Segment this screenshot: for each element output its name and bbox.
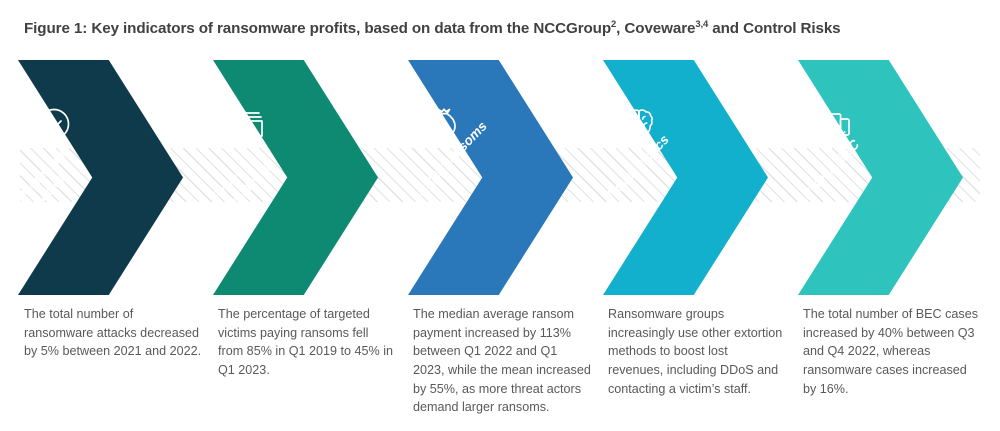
chevron-stage-2[interactable]: Fewer payments <box>213 60 378 295</box>
chevron-stage-4[interactable]: Novel tactics <box>603 60 768 295</box>
page-title-suffix: and Control Risks <box>708 20 840 37</box>
footnote-ref-3-4: 3,4 <box>695 18 708 29</box>
caption-stage-4: Ransomware groups increasingly use other… <box>608 305 786 398</box>
chevron-stage-3[interactable]: Larger ransoms <box>408 60 573 295</box>
chevron-stage-5[interactable]: Rise in BEC <box>798 60 963 295</box>
page-title-prefix: Figure 1: Key indicators of ransomware p… <box>24 20 611 37</box>
page-title: Figure 1: Key indicators of ransomware p… <box>24 20 841 37</box>
chevron-flow: Decreasing attacks Fewer payments Large <box>0 60 1000 295</box>
caption-row: The total number of ransomware attacks d… <box>0 305 1000 431</box>
page-title-mid: , Coveware <box>616 20 695 37</box>
caption-stage-1: The total number of ransomware attacks d… <box>24 305 202 361</box>
chevron-stage-1[interactable]: Decreasing attacks <box>18 60 183 295</box>
caption-stage-5: The total number of BEC cases increased … <box>803 305 981 398</box>
caption-stage-3: The median average ransom payment increa… <box>413 305 591 417</box>
caption-stage-2: The percentage of targeted victims payin… <box>218 305 396 380</box>
